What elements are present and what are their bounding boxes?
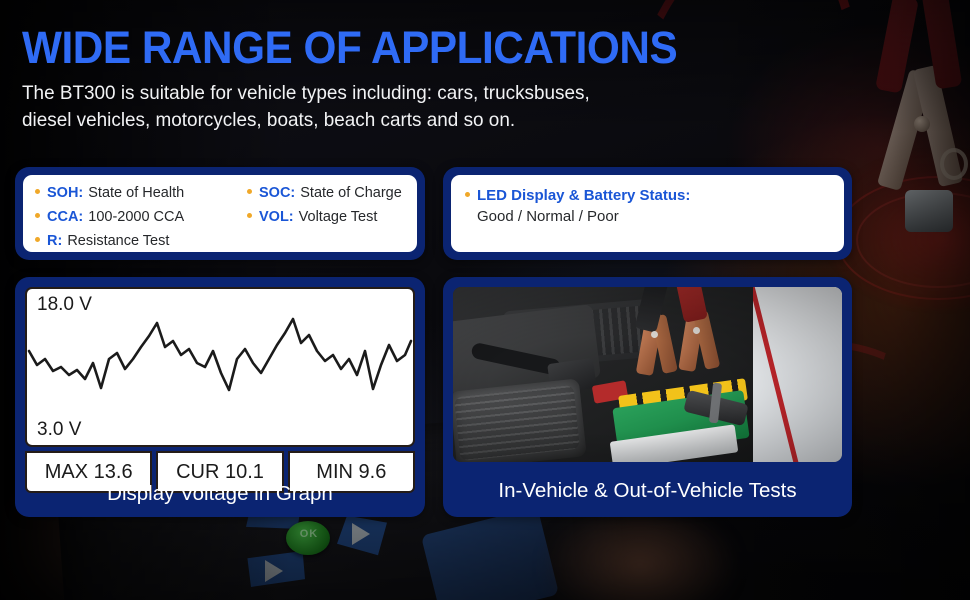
bullet-dot-icon <box>247 189 252 194</box>
spec-card-inner: SOH: State of Health CCA: 100-2000 CCA R… <box>23 175 417 252</box>
spec-label: VOL: <box>259 209 294 226</box>
bullet-dot-icon <box>35 189 40 194</box>
spec-column-left: SOH: State of Health CCA: 100-2000 CCA R… <box>35 185 247 252</box>
list-item: R: Resistance Test <box>35 233 247 250</box>
spec-grid: SOH: State of Health CCA: 100-2000 CCA R… <box>23 175 417 252</box>
page-subtitle: The BT300 is suitable for vehicle types … <box>22 80 759 134</box>
spec-column-right: SOC: State of Charge VOL: Voltage Test <box>247 185 402 252</box>
led-card-inner: LED Display & Battery Status: Good / Nor… <box>451 175 844 252</box>
list-item: SOC: State of Charge <box>247 185 402 202</box>
spec-text: Resistance Test <box>67 233 169 250</box>
bullet-dot-icon <box>35 237 40 242</box>
spec-text: 100-2000 CCA <box>88 209 184 226</box>
vehicle-test-panel: In-Vehicle & Out-of-Vehicle Tests <box>443 277 852 517</box>
spec-text: Voltage Test <box>299 209 378 226</box>
list-item: LED Display & Battery Status: <box>465 187 830 204</box>
subtitle-line-2: diesel vehicles, motorcycles, boats, bea… <box>22 107 759 134</box>
bullet-dot-icon <box>465 192 470 197</box>
spec-card: SOH: State of Health CCA: 100-2000 CCA R… <box>15 167 425 260</box>
led-heading: LED Display & Battery Status: <box>477 187 690 204</box>
spec-label: R: <box>47 233 62 250</box>
photo-shading-overlay <box>453 287 842 462</box>
spec-text: State of Charge <box>300 185 402 202</box>
engine-bay-photo <box>453 287 842 462</box>
led-status-card: LED Display & Battery Status: Good / Nor… <box>443 167 852 260</box>
bullet-dot-icon <box>247 213 252 218</box>
spec-label: SOC: <box>259 185 295 202</box>
lcd-screen: 18.0 V 3.0 V <box>25 287 415 447</box>
voltage-graph-panel: 18.0 V 3.0 V MAX 13.6 CUR 10.1 MIN 9.6 D… <box>15 277 425 517</box>
subtitle-line-1: The BT300 is suitable for vehicle types … <box>22 80 759 107</box>
led-card-content: LED Display & Battery Status: Good / Nor… <box>451 175 844 227</box>
led-status-values: Good / Normal / Poor <box>477 207 830 227</box>
spec-label: SOH: <box>47 185 83 202</box>
bullet-dot-icon <box>35 213 40 218</box>
list-item: VOL: Voltage Test <box>247 209 402 226</box>
voltage-waveform <box>27 289 413 445</box>
list-item: CCA: 100-2000 CCA <box>35 209 247 226</box>
header: WIDE RANGE OF APPLICATIONS The BT300 is … <box>22 22 782 134</box>
photo-panel-caption: In-Vehicle & Out-of-Vehicle Tests <box>443 465 852 517</box>
list-item: SOH: State of Health <box>35 185 247 202</box>
spec-label: CCA: <box>47 209 83 226</box>
spec-text: State of Health <box>88 185 184 202</box>
graph-panel-caption: Display Voltage in Graph <box>15 471 425 517</box>
page-title: WIDE RANGE OF APPLICATIONS <box>22 22 736 74</box>
